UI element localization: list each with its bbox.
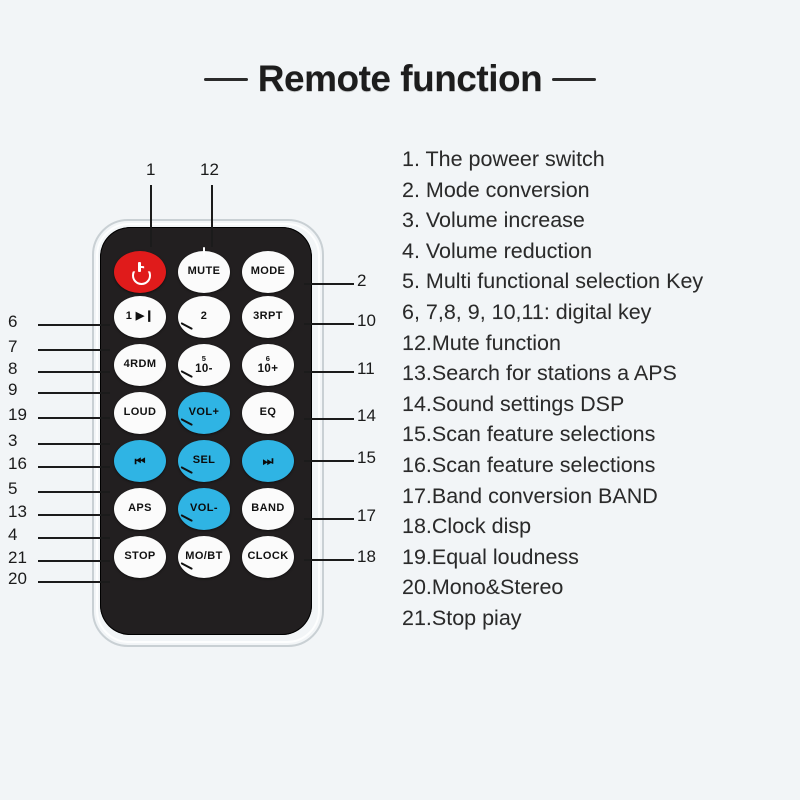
remote-button-digit: 6 (266, 355, 271, 363)
callout-leader-left-9 (38, 392, 110, 394)
remote-button-label: EQ (260, 407, 277, 418)
callout-leader-right-18 (304, 559, 354, 561)
remote-button-two[interactable]: 2 (178, 296, 230, 338)
callout-number-16: 16 (8, 454, 27, 474)
callout-leader-right-11 (304, 371, 354, 373)
remote-button-loud[interactable]: LOUD (114, 392, 166, 434)
remote-button-mobt[interactable]: MO/BT (178, 536, 230, 578)
remote-button-clock[interactable]: CLOCK (242, 536, 294, 578)
callout-leader-right-15 (304, 460, 354, 462)
remote-button-label: MUTE (188, 266, 221, 277)
remote-button-digit: 5 (202, 355, 207, 363)
callout-number-4: 4 (8, 525, 17, 545)
power-icon (130, 262, 150, 282)
remote-button-grid: MUTEMODE1 ▶❙23RPT4RDM510-610+LOUDVOL+EQ⏮… (100, 248, 312, 588)
remote-button-eq[interactable]: EQ (242, 392, 294, 434)
callout-leader-left-13 (38, 514, 110, 516)
callout-number-17: 17 (357, 506, 376, 526)
remote-button-label: 4RDM (124, 359, 157, 370)
callout-leader-left-16 (38, 466, 110, 468)
button-mold-line (203, 247, 205, 256)
remote-button-label: CLOCK (247, 551, 288, 562)
button-mold-line (181, 562, 193, 570)
remote-button-sublabel: 10+ (258, 364, 279, 376)
remote-button-sublabel: 10- (195, 364, 213, 376)
callout-number-7: 7 (8, 337, 17, 357)
function-list-item: 16.Scan feature selections (402, 450, 798, 481)
callout-leader-left-8 (38, 371, 110, 373)
remote-button-mute[interactable]: MUTE (178, 251, 230, 293)
callout-number-19: 19 (8, 405, 27, 425)
callout-leader-right-17 (304, 518, 354, 520)
page-root: Remote function MUTEMODE1 ▶❙23RPT4RDM510… (0, 0, 800, 800)
title-dash-right (552, 78, 596, 81)
function-list-item: 20.Mono&Stereo (402, 572, 798, 603)
callout-number-3: 3 (8, 431, 17, 451)
button-mold-line (181, 418, 193, 426)
callout-number-5: 5 (8, 479, 17, 499)
callout-leader-left-6 (38, 324, 110, 326)
remote-button-label: VOL- (190, 503, 218, 514)
page-title: Remote function (0, 58, 800, 100)
page-title-text: Remote function (258, 58, 542, 100)
function-list: 1. The poweer switch2. Mode conversion3.… (402, 144, 798, 634)
function-list-item: 3. Volume increase (402, 205, 798, 236)
remote-button-vol-up[interactable]: VOL+ (178, 392, 230, 434)
function-list-item: 15.Scan feature selections (402, 419, 798, 450)
remote-button-label: VOL+ (189, 407, 220, 418)
function-list-item: 13.Search for stations a APS (402, 358, 798, 389)
callout-number-15: 15 (357, 448, 376, 468)
function-list-item: 2. Mode conversion (402, 175, 798, 206)
callout-number-20: 20 (8, 569, 27, 589)
remote-button-mode[interactable]: MODE (242, 251, 294, 293)
button-mold-line (181, 370, 193, 378)
callout-number-18: 18 (357, 547, 376, 567)
callout-leader-right-14 (304, 418, 354, 420)
callout-leader-left-21 (38, 560, 110, 562)
remote-button-rdm[interactable]: 4RDM (114, 344, 166, 386)
remote-button-sel[interactable]: SEL (178, 440, 230, 482)
function-list-item: 14.Sound settings DSP (402, 389, 798, 420)
function-list-item: 19.Equal loudness (402, 542, 798, 573)
callout-number-13: 13 (8, 502, 27, 522)
callout-leader-right-2 (304, 283, 354, 285)
remote-button-label: 2 (201, 311, 208, 322)
remote-button-one[interactable]: 1 ▶❙ (114, 296, 166, 338)
remote-button-band[interactable]: BAND (242, 488, 294, 530)
function-list-item: 1. The poweer switch (402, 144, 798, 175)
remote-button-stop[interactable]: STOP (114, 536, 166, 578)
callout-leader-top-1 (150, 185, 152, 247)
callout-number-12: 12 (200, 160, 219, 180)
callout-number-21: 21 (8, 548, 27, 568)
remote-button-ten-minus[interactable]: 510- (178, 344, 230, 386)
remote-button-label: BAND (251, 503, 284, 514)
callout-number-10: 10 (357, 311, 376, 331)
callout-leader-left-7 (38, 349, 110, 351)
function-list-item: 4. Volume reduction (402, 236, 798, 267)
callout-number-14: 14 (357, 406, 376, 426)
remote-button-label: MO/BT (185, 551, 222, 562)
callout-leader-left-20 (38, 581, 110, 583)
remote-button-vol-down[interactable]: VOL- (178, 488, 230, 530)
remote-button-label: ⏮ (135, 455, 146, 467)
remote-button-label: 3RPT (253, 311, 283, 322)
remote-button-ten-plus[interactable]: 610+ (242, 344, 294, 386)
callout-number-1: 1 (146, 160, 155, 180)
callout-leader-left-3 (38, 443, 110, 445)
function-list-item: 21.Stop piay (402, 603, 798, 634)
remote-button-power[interactable] (114, 251, 166, 293)
callout-number-6: 6 (8, 312, 17, 332)
remote-button-label: ⏭ (263, 455, 274, 467)
button-mold-line (181, 466, 193, 474)
button-mold-line (181, 514, 193, 522)
remote-button-prev[interactable]: ⏮ (114, 440, 166, 482)
remote-button-label: SEL (193, 455, 216, 466)
remote-button-label: 1 ▶❙ (126, 311, 154, 322)
remote-button-label: LOUD (124, 407, 157, 418)
remote-button-label: MODE (251, 266, 286, 277)
callout-number-8: 8 (8, 359, 17, 379)
remote-button-label: STOP (124, 551, 155, 562)
callout-leader-right-10 (304, 323, 354, 325)
callout-number-11: 11 (357, 359, 375, 379)
remote-button-rpt[interactable]: 3RPT (242, 296, 294, 338)
button-mold-line (181, 322, 193, 330)
callout-number-9: 9 (8, 380, 17, 400)
callout-leader-top-12 (211, 185, 213, 247)
function-list-item: 6, 7,8, 9, 10,11: digital key (402, 297, 798, 328)
remote-button-next[interactable]: ⏭ (242, 440, 294, 482)
remote-button-aps[interactable]: APS (114, 488, 166, 530)
callout-number-2: 2 (357, 271, 366, 291)
function-list-item: 18.Clock disp (402, 511, 798, 542)
title-dash-left (204, 78, 248, 81)
function-list-item: 17.Band conversion BAND (402, 481, 798, 512)
remote-button-label: APS (128, 503, 152, 514)
callout-leader-left-19 (38, 417, 110, 419)
function-list-item: 5. Multi functional selection Key (402, 266, 798, 297)
callout-leader-left-4 (38, 537, 110, 539)
function-list-item: 12.Mute function (402, 328, 798, 359)
callout-leader-left-5 (38, 491, 110, 493)
